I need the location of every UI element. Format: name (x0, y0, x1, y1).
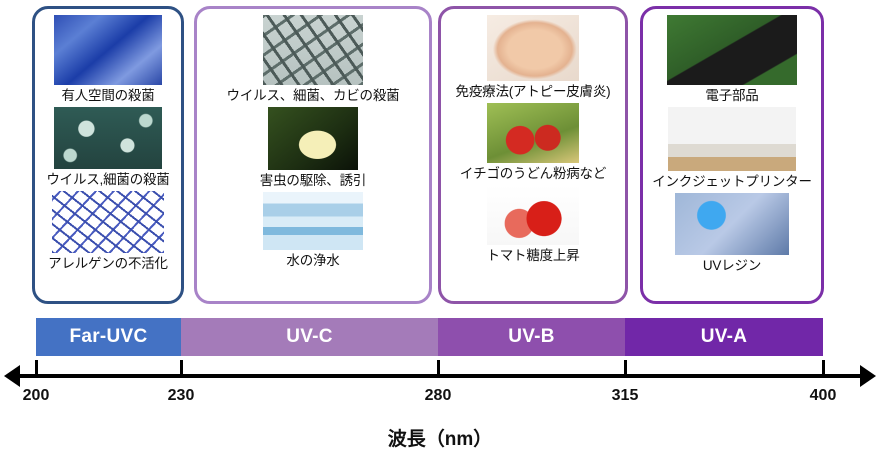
panel-item: トマト糖度上昇 (441, 185, 625, 267)
panel-item: イチゴのうどん粉病など (441, 103, 625, 185)
panel-item-caption: イチゴのうどん粉病など (460, 166, 606, 183)
axis-tick (624, 360, 627, 375)
axis-tick-label: 280 (425, 387, 452, 405)
axis-tick (822, 360, 825, 375)
panel-item-caption: トマト糖度上昇 (486, 248, 579, 265)
panel-item-caption: 水の浄水 (286, 253, 339, 270)
panel-item-caption: 害虫の駆除、誘引 (260, 173, 366, 190)
panel-item: 害虫の駆除、誘引 (197, 107, 429, 192)
panel-item-caption: インクジェットプリンター (652, 174, 812, 191)
spectrum-band-label: Far-UVC (69, 326, 147, 348)
panel-item-caption: アレルゲンの不活化 (48, 256, 168, 273)
panel-item-caption: ウイルス,細菌の殺菌 (46, 172, 169, 189)
axis-tick (35, 360, 38, 375)
uv-resin-photo (675, 193, 789, 255)
panel-item: 水の浄水 (197, 192, 429, 272)
panel-item-caption: 電子部品 (705, 88, 758, 105)
axis-line (14, 374, 866, 378)
spectrum-color-bar: Far-UVCUV-CUV-BUV-A (36, 318, 823, 356)
virus-bacteria-micrograph (54, 107, 162, 169)
axis-tick-label: 230 (168, 387, 195, 405)
application-panels-row: 有人空間の殺菌ウイルス,細菌の殺菌アレルゲンの不活化ウイルス、細菌、カビの殺菌害… (0, 0, 880, 312)
panel-item: ウイルス,細菌の殺菌 (35, 107, 181, 191)
axis-tick (437, 360, 440, 375)
strawberry-powdery-mildew-photo (487, 103, 579, 163)
axis-title: 波長（nm） (0, 424, 880, 451)
spectrum-band-label: UV-A (701, 326, 748, 348)
panel-item: ウイルス、細菌、カビの殺菌 (197, 15, 429, 107)
panel-item: インクジェットプリンター (643, 107, 821, 193)
spectrum-band-uv-a: UV-A (625, 318, 823, 356)
panel-far-uvc: 有人空間の殺菌ウイルス,細菌の殺菌アレルゲンの不活化 (32, 6, 184, 304)
panel-item: 電子部品 (643, 15, 821, 107)
wavelength-axis: 200230280315400 (0, 356, 880, 402)
panel-uv-b: 免疫療法(アトピー皮膚炎)イチゴのうどん粉病などトマト糖度上昇 (438, 6, 628, 304)
panel-item-caption: UVレジン (703, 258, 761, 275)
panel-uv-a: 電子部品インクジェットプリンターUVレジン (640, 6, 824, 304)
spectrum-band-uv-b: UV-B (438, 318, 625, 356)
baby-immunotherapy-photo (487, 15, 579, 81)
panel-item: UVレジン (643, 193, 821, 277)
axis-tick-label: 315 (612, 387, 639, 405)
axis-arrow-left-icon (4, 365, 20, 387)
axis-tick-label: 200 (23, 387, 50, 405)
panel-item-caption: 有人空間の殺菌 (61, 88, 154, 105)
spectrum-band-label: UV-C (286, 326, 333, 348)
water-purification-photo (263, 192, 363, 250)
panel-item: アレルゲンの不活化 (35, 191, 181, 275)
axis-arrow-right-icon (860, 365, 876, 387)
axis-tick (180, 360, 183, 375)
panel-item: 有人空間の殺菌 (35, 15, 181, 107)
panel-uv-c: ウイルス、細菌、カビの殺菌害虫の駆除、誘引水の浄水 (194, 6, 432, 304)
spectrum-band-far-uvc: Far-UVC (36, 318, 181, 356)
tomato-sugar-content-photo (487, 185, 579, 245)
whitefly-pest-photo (268, 107, 358, 170)
spectrum-band-label: UV-B (508, 326, 555, 348)
spectrum-band-uv-c: UV-C (181, 318, 438, 356)
mold-bacteria-micrograph (263, 15, 363, 85)
allergen-inactivation-micrograph (52, 191, 164, 253)
disinfecting-occupied-space-photo (54, 15, 162, 85)
panel-item: 免疫療法(アトピー皮膚炎) (441, 15, 625, 103)
inkjet-printer-photo (668, 107, 796, 171)
panel-item-caption: ウイルス、細菌、カビの殺菌 (227, 88, 400, 105)
axis-tick-label: 400 (810, 387, 837, 405)
electronic-components-photo (667, 15, 797, 85)
panel-item-caption: 免疫療法(アトピー皮膚炎) (456, 84, 611, 101)
